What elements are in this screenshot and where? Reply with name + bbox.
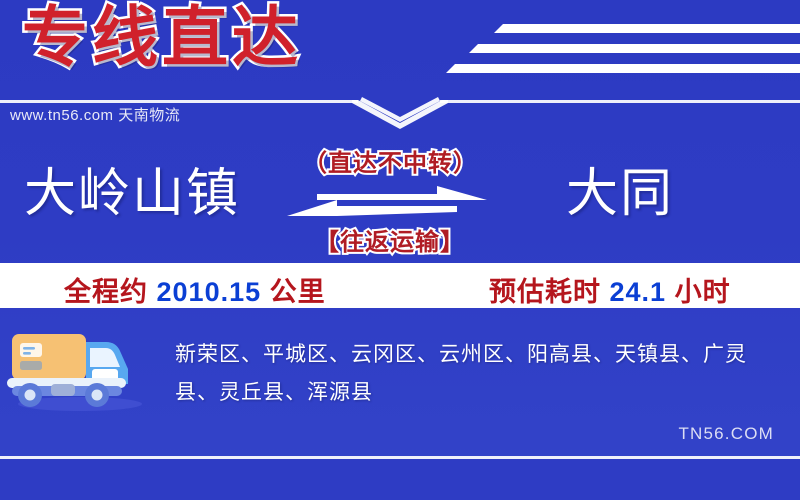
chevron-down-icon (352, 95, 448, 129)
duration-stat: 预估耗时 24.1 小时 (489, 270, 731, 309)
distance-label: 全程约 (64, 277, 148, 307)
direct-service-tag: （直达不中转） (303, 143, 478, 178)
round-trip-tag: 【往返运输】 (315, 222, 465, 257)
page-title: 专线直达 (22, 4, 302, 70)
distance-value: 2010.15 (157, 277, 262, 307)
logistics-route-banner: 专线直达 www.tn56.com 天南物流 大岭山镇 大同 （直达不中转） 【… (0, 0, 800, 500)
speed-bar-1 (494, 24, 800, 33)
distance-stat: 全程约 2010.15 公里 (64, 270, 326, 309)
coverage-districts: 新荣区、平城区、云冈区、云州区、阳高县、天镇县、广灵县、灵丘县、浑源县 (175, 336, 783, 412)
origin-city: 大岭山镇 (24, 168, 240, 220)
duration-unit: 小时 (675, 277, 731, 307)
watermark-label: TN56.COM (678, 424, 774, 444)
divider-right (440, 100, 800, 103)
speed-bar-3 (446, 64, 800, 73)
duration-label: 预估耗时 (489, 277, 601, 307)
stats-band: 全程约 2010.15 公里 预估耗时 24.1 小时 (0, 263, 800, 308)
duration-value: 24.1 (610, 277, 667, 307)
decorative-speed-bars (430, 10, 800, 80)
divider-left (0, 100, 358, 103)
site-url-label: www.tn56.com 天南物流 (10, 104, 180, 125)
destination-city: 大同 (566, 168, 674, 220)
speed-bar-2 (469, 44, 800, 53)
delivery-truck-icon (4, 312, 154, 412)
double-arrow-icon (287, 186, 487, 226)
distance-unit: 公里 (270, 277, 326, 307)
footer-bar: 公司地址：物流园区（请咨询我公司客服发详细定位） (0, 459, 800, 500)
